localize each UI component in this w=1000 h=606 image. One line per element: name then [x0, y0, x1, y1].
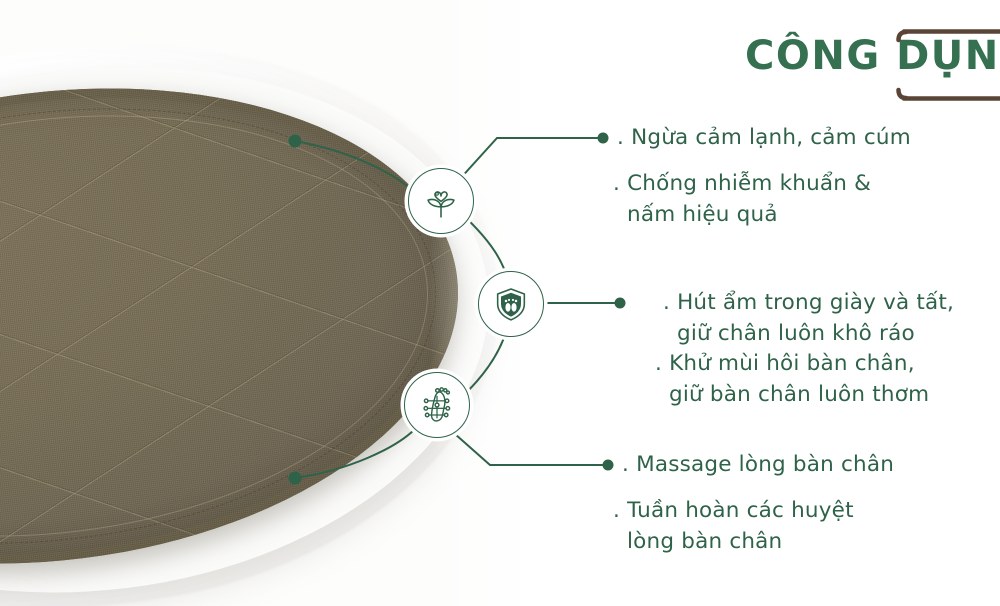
- icon-node-shield-footprint[interactable]: [478, 271, 544, 337]
- shield-footprint-icon: [491, 284, 531, 324]
- benefit-line: . Tuần hoàn các huyệt: [613, 495, 854, 526]
- infographic-canvas: CÔNG DỤNG . Ngừa cảm lạnh, cảm cúm . Chố…: [0, 0, 1000, 606]
- icon-node-heart-leaf[interactable]: [408, 168, 474, 234]
- benefit-line: nấm hiệu quả: [613, 199, 871, 230]
- benefit-line: giữ chân luôn khô ráo: [663, 318, 954, 349]
- benefit-text-5: . Massage lòng bàn chân: [622, 449, 894, 480]
- product-photo: [0, 0, 560, 606]
- anchor-dot-top-right: [598, 133, 609, 144]
- benefit-text-2: . Chống nhiễm khuẩn & nấm hiệu quả: [613, 168, 871, 230]
- title-bracket-decoration: [896, 22, 1000, 108]
- benefit-line: . Ngừa cảm lạnh, cảm cúm: [617, 122, 911, 153]
- benefit-text-3: . Hút ẩm trong giày và tất, giữ chân luô…: [663, 287, 954, 349]
- benefit-line: . Massage lòng bàn chân: [622, 449, 894, 480]
- heart-leaf-icon: [421, 181, 461, 221]
- anchor-dot-middle-right: [615, 298, 626, 309]
- benefit-line: . Hút ẩm trong giày và tất,: [663, 287, 954, 318]
- icon-node-foot-acupressure[interactable]: [404, 372, 470, 438]
- anchor-dot-bottom-right: [603, 460, 614, 471]
- benefit-line: lòng bàn chân: [613, 526, 854, 557]
- benefit-text-4: . Khử mùi hôi bàn chân, giữ bàn chân luô…: [655, 348, 929, 410]
- benefit-line: . Chống nhiễm khuẩn &: [613, 168, 871, 199]
- benefit-text-6: . Tuần hoàn các huyệt lòng bàn chân: [613, 495, 854, 557]
- benefit-line: . Khử mùi hôi bàn chân,: [655, 348, 929, 379]
- benefit-line: giữ bàn chân luôn thơm: [655, 379, 929, 410]
- foot-acupressure-icon: [417, 385, 457, 425]
- benefit-text-1: . Ngừa cảm lạnh, cảm cúm: [617, 122, 911, 153]
